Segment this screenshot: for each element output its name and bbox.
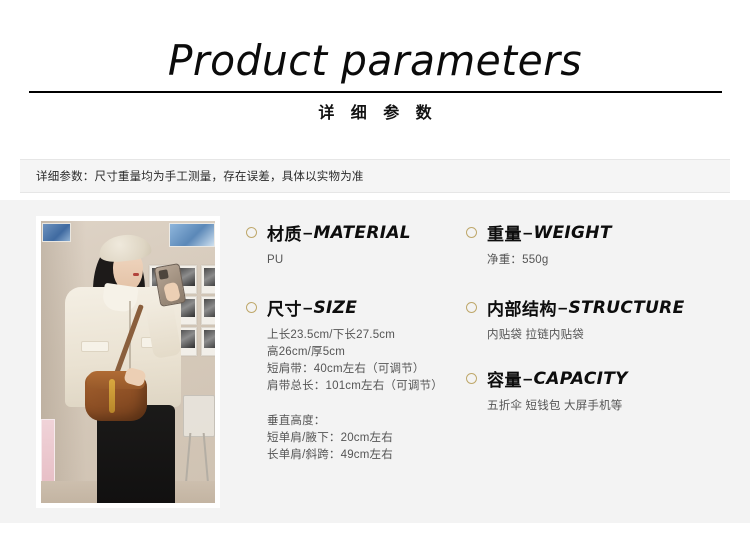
- circle-bullet-icon: [466, 373, 477, 384]
- circle-bullet-icon: [246, 302, 257, 313]
- spec-panel: 材质 – MATERIAL PU 尺寸 – SIZE 上长23.5cm/下长27…: [0, 200, 750, 523]
- spec-heading-size: 尺寸 – SIZE: [246, 295, 456, 320]
- page-header: Product parameters 详 细 参 数: [0, 0, 750, 145]
- spec-heading-cn: 重量: [487, 220, 522, 245]
- spec-heading-en: CAPACITY: [533, 369, 627, 389]
- spec-heading-material: 材质 – MATERIAL: [246, 220, 456, 245]
- spec-detail-line: 五折伞 短钱包 大屏手机等: [487, 398, 736, 415]
- spec-details-weight: 净重：550g: [487, 252, 736, 269]
- spec-heading-cn: 材质: [267, 220, 302, 245]
- spec-detail-line: 短肩带：40cm左右（可调节）: [267, 361, 456, 378]
- product-photo-frame: [36, 216, 220, 508]
- spec-heading-cn: 容量: [487, 366, 522, 391]
- spec-detail-line: 高26cm/厚5cm: [267, 344, 456, 361]
- spec-detail-line: 内贴袋 拉链内贴袋: [487, 327, 736, 344]
- spec-column-left: 材质 – MATERIAL PU 尺寸 – SIZE 上长23.5cm/下长27…: [246, 220, 456, 464]
- spec-detail-line: 净重：550g: [487, 252, 736, 269]
- page-subtitle: 详 细 参 数: [0, 99, 750, 123]
- spec-heading-cn: 内部结构: [487, 295, 557, 320]
- spec-heading-cn: 尺寸: [267, 295, 302, 320]
- photo-poster-left: [42, 223, 71, 242]
- circle-bullet-icon: [466, 227, 477, 238]
- spec-detail-line: PU: [267, 252, 456, 269]
- spec-heading-separator: –: [302, 223, 313, 243]
- spec-heading-en: STRUCTURE: [568, 298, 684, 318]
- spec-heading-capacity: 容量 – CAPACITY: [466, 366, 736, 391]
- spec-heading-separator: –: [522, 369, 533, 389]
- circle-bullet-icon: [466, 302, 477, 313]
- page-title: Product parameters: [11, 36, 739, 85]
- spec-group-size: 尺寸 – SIZE 上长23.5cm/下长27.5cm 高26cm/厚5cm 短…: [246, 295, 456, 464]
- spec-heading-en: SIZE: [313, 298, 357, 318]
- spec-detail-line: 肩带总长：101cm左右（可调节）: [267, 378, 456, 395]
- spec-detail-line: 短单肩/腋下：20cm左右: [267, 430, 456, 447]
- product-parameters-page: Product parameters 详 细 参 数 详细参数：尺寸重量均为手工…: [0, 0, 750, 556]
- title-divider: [29, 91, 722, 93]
- spec-heading-separator: –: [522, 223, 533, 243]
- spec-heading-separator: –: [302, 298, 313, 318]
- photo-stool: [181, 395, 213, 487]
- spec-heading-separator: –: [557, 298, 568, 318]
- photo-poster-right: [169, 223, 215, 247]
- spec-heading-weight: 重量 – WEIGHT: [466, 220, 736, 245]
- photo-model-lips: [133, 273, 139, 276]
- circle-bullet-icon: [246, 227, 257, 238]
- measurement-notice-text: 详细参数：尺寸重量均为手工测量，存在误差，具体以实物为准: [20, 168, 364, 184]
- spec-group-capacity: 容量 – CAPACITY 五折伞 短钱包 大屏手机等: [466, 366, 736, 415]
- spec-detail-line: 上长23.5cm/下长27.5cm: [267, 327, 456, 344]
- measurement-notice-bar: 详细参数：尺寸重量均为手工测量，存在误差，具体以实物为准: [20, 159, 730, 193]
- spec-heading-en: MATERIAL: [313, 223, 410, 243]
- spec-group-material: 材质 – MATERIAL PU: [246, 220, 456, 269]
- product-photo: [41, 221, 215, 503]
- spec-group-structure: 内部结构 – STRUCTURE 内贴袋 拉链内贴袋: [466, 295, 736, 344]
- photo-jacket-pocket-left: [81, 341, 109, 352]
- spec-details-material: PU: [267, 252, 456, 269]
- spec-details-structure: 内贴袋 拉链内贴袋: [487, 327, 736, 344]
- spec-heading-structure: 内部结构 – STRUCTURE: [466, 295, 736, 320]
- spec-details-size: 上长23.5cm/下长27.5cm 高26cm/厚5cm 短肩带：40cm左右（…: [267, 327, 456, 395]
- spec-detail-line: 长单肩/斜跨：49cm左右: [267, 447, 456, 464]
- spec-details-capacity: 五折伞 短钱包 大屏手机等: [487, 398, 736, 415]
- spec-detail-line: 垂直高度：: [267, 413, 456, 430]
- spec-heading-en: WEIGHT: [533, 223, 611, 243]
- spec-column-right: 重量 – WEIGHT 净重：550g 内部结构 – STRUCTURE 内贴袋…: [466, 220, 736, 415]
- photo-bag-clasp: [109, 379, 115, 413]
- spec-group-weight: 重量 – WEIGHT 净重：550g: [466, 220, 736, 269]
- spec-details-vertical-height: 垂直高度： 短单肩/腋下：20cm左右 长单肩/斜跨：49cm左右: [267, 413, 456, 464]
